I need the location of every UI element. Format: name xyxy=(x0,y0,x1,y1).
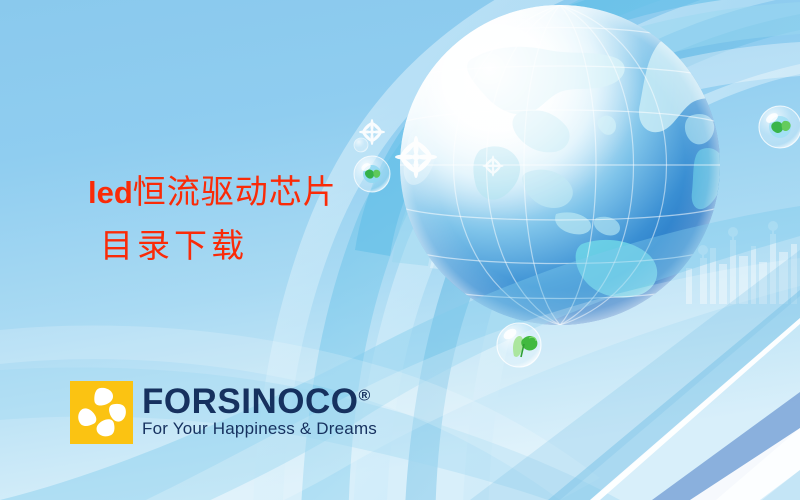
bubble-edge-right xyxy=(759,106,800,148)
bubble-tiny-left xyxy=(354,138,368,152)
bubble-sprout xyxy=(497,323,541,367)
logo-text-block: FORSINOCO® For Your Happiness & Dreams xyxy=(142,381,377,439)
logo-wordmark-text: FORSINOCO xyxy=(142,382,358,421)
registered-trademark-icon: ® xyxy=(358,387,370,404)
bubble-globe-small xyxy=(354,156,390,192)
promo-banner: led恒流驱动芯片 目录下载 FORSINOCO® For Your Happi… xyxy=(0,0,800,500)
four-petal-pinwheel-mark-icon xyxy=(70,381,133,444)
logo-wordmark: FORSINOCO® xyxy=(142,385,377,418)
brand-logo[interactable]: FORSINOCO® For Your Happiness & Dreams xyxy=(70,381,377,444)
logo-tagline: For Your Happiness & Dreams xyxy=(142,419,377,439)
